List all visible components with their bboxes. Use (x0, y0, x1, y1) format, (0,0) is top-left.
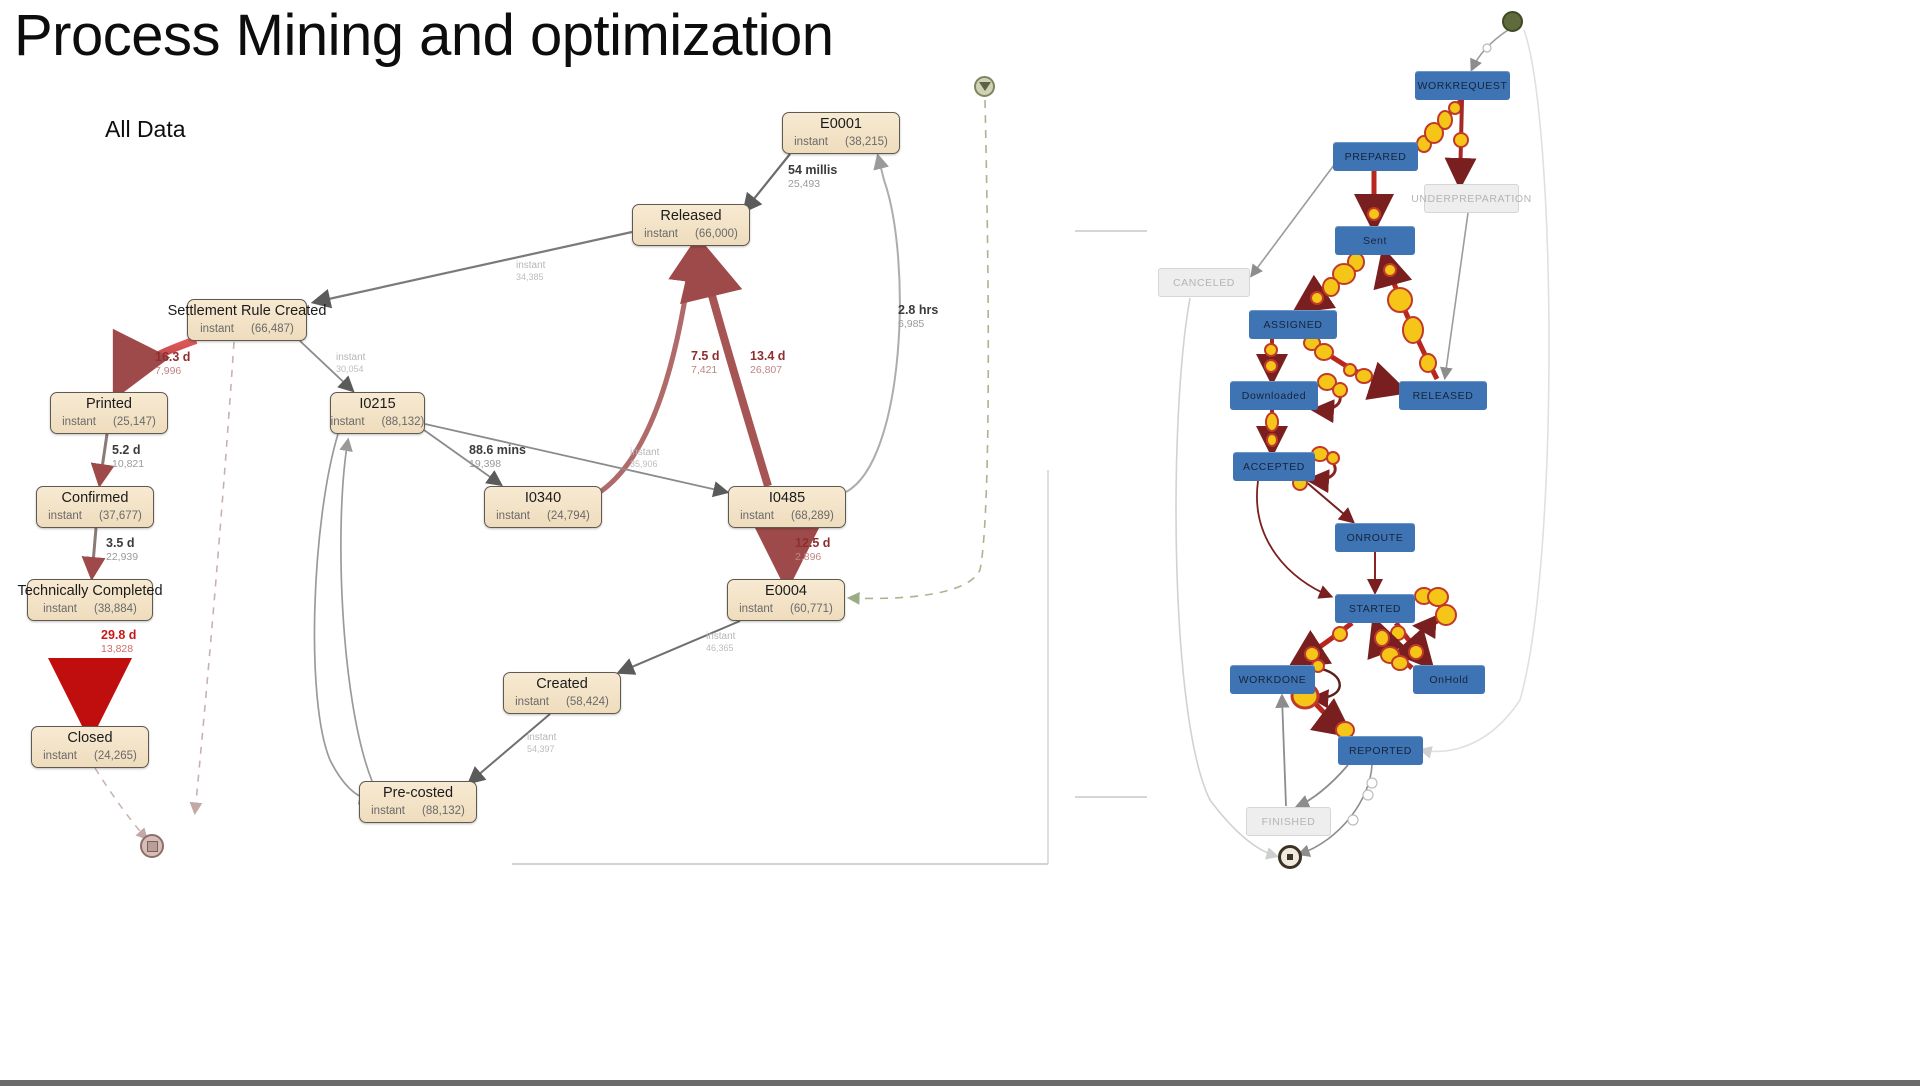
process-node-metrics: instant(66,487) (200, 323, 294, 335)
state-node-label: ASSIGNED (1263, 319, 1322, 331)
process-node-count: (38,215) (845, 136, 888, 148)
process-node-count: (66,487) (251, 323, 294, 335)
process-node-count: (68,289) (791, 510, 834, 522)
edge-count: 30,054 (336, 364, 365, 375)
process-node-metrics: instant(88,132) (331, 416, 425, 428)
process-node-count: (37,677) (99, 510, 142, 522)
process-node-count: (24,265) (94, 750, 137, 762)
process-node-metric: instant (371, 805, 405, 817)
state-node-underpreparation[interactable]: UNDERPREPARATION (1424, 184, 1519, 213)
process-node-created[interactable]: Createdinstant(58,424) (503, 672, 621, 714)
process-node-i0485[interactable]: I0485instant(68,289) (728, 486, 846, 528)
edge-label-i0215-to-i0340: 88.6 mins19,398 (469, 443, 526, 470)
state-node-label: Sent (1363, 235, 1387, 247)
process-node-count: (88,132) (382, 416, 425, 428)
edge-count: 22,939 (106, 551, 138, 563)
edge-count: 25,493 (788, 178, 837, 190)
edge-label-created-to-precost: instant54,397 (527, 732, 556, 754)
state-node-started[interactable]: STARTED (1335, 594, 1415, 623)
process-node-metric: instant (496, 510, 530, 522)
edge-label-i0340-to-released: 7.5 d7,421 (691, 349, 720, 376)
edge-count: 19,398 (469, 458, 526, 470)
process-node-metrics: instant(88,132) (371, 805, 465, 817)
state-node-label: UNDERPREPARATION (1411, 193, 1532, 205)
state-node-label: Downloaded (1242, 390, 1306, 402)
state-node-onhold[interactable]: OnHold (1413, 665, 1485, 694)
bpmn-end-marker[interactable] (1278, 845, 1302, 869)
edge-duration: 88.6 mins (469, 443, 526, 458)
process-node-label: Released (660, 208, 721, 225)
edge-count: 26,807 (750, 364, 785, 376)
state-node-released[interactable]: RELEASED (1399, 381, 1487, 410)
process-node-count: (25,147) (113, 416, 156, 428)
process-node-label: Printed (86, 396, 132, 413)
edge-duration: 2.8 hrs (898, 303, 938, 318)
process-node-metric: instant (794, 136, 828, 148)
edge-label-i0485-to-e0004: 12.5 d2,896 (795, 536, 830, 563)
process-node-released[interactable]: Releasedinstant(66,000) (632, 204, 750, 246)
process-node-label: I0215 (359, 396, 395, 413)
state-node-label: PREPARED (1345, 151, 1407, 163)
state-node-workdone[interactable]: WORKDONE (1230, 665, 1315, 694)
process-node-metric: instant (740, 510, 774, 522)
state-node-accepted[interactable]: ACCEPTED (1233, 452, 1315, 481)
process-node-label: Closed (67, 730, 112, 747)
process-node-i0340[interactable]: I0340instant(24,794) (484, 486, 602, 528)
edge-label-src-to-printed: 16.3 d7,996 (155, 350, 190, 377)
edge-label-e0004-to-created: instant46,365 (706, 631, 735, 653)
process-node-label: Created (536, 676, 588, 693)
edge-duration: instant (516, 260, 545, 272)
state-machine-edges (0, 0, 1920, 1086)
state-node-downloaded[interactable]: Downloaded (1230, 381, 1318, 410)
state-node-canceled[interactable]: CANCELED (1158, 268, 1250, 297)
edge-label-techcomp-to-closed: 29.8 d13,828 (101, 628, 136, 655)
process-node-precost[interactable]: Pre-costedinstant(88,132) (359, 781, 477, 823)
process-node-metric: instant (62, 416, 96, 428)
process-node-confirmed[interactable]: Confirmedinstant(37,677) (36, 486, 154, 528)
process-node-metrics: instant(38,884) (43, 603, 137, 615)
edge-count: 34,385 (516, 272, 545, 283)
start-marker[interactable] (974, 76, 995, 97)
edge-label-i0215-to-i0485: instant35,906 (630, 447, 659, 469)
process-node-metrics: instant(58,424) (515, 696, 609, 708)
edge-duration: 7.5 d (691, 349, 720, 364)
state-node-label: REPORTED (1349, 745, 1412, 757)
process-node-count: (38,884) (94, 603, 137, 615)
process-node-count: (66,000) (695, 228, 738, 240)
edge-duration: 3.5 d (106, 536, 138, 551)
process-node-label: I0485 (769, 490, 805, 507)
process-node-label: Pre-costed (383, 785, 453, 802)
process-node-metric: instant (48, 510, 82, 522)
bottom-bar (0, 1080, 1920, 1086)
process-node-metric: instant (515, 696, 549, 708)
state-node-sent[interactable]: Sent (1335, 226, 1415, 255)
process-node-i0215[interactable]: I0215instant(88,132) (330, 392, 425, 434)
edge-count: 54,397 (527, 744, 556, 755)
edge-count: 2,896 (795, 551, 830, 563)
process-node-metrics: instant(25,147) (62, 416, 156, 428)
process-node-metric: instant (43, 750, 77, 762)
process-node-count: (58,424) (566, 696, 609, 708)
process-node-metric: instant (644, 228, 678, 240)
state-node-label: FINISHED (1262, 816, 1316, 828)
state-node-reported[interactable]: REPORTED (1338, 736, 1423, 765)
process-node-label: I0340 (525, 490, 561, 507)
edge-count: 6,985 (898, 318, 938, 330)
process-node-metrics: instant(24,794) (496, 510, 590, 522)
edge-count: 35,906 (630, 459, 659, 470)
state-node-label: CANCELED (1173, 277, 1235, 289)
process-node-label: E0004 (765, 583, 807, 600)
state-node-label: WORKDONE (1239, 674, 1307, 686)
state-node-assigned[interactable]: ASSIGNED (1249, 310, 1337, 339)
process-node-label: Confirmed (62, 490, 129, 507)
edge-count: 46,365 (706, 643, 735, 654)
process-node-metrics: instant(37,677) (48, 510, 142, 522)
process-node-label: Settlement Rule Created (168, 303, 327, 320)
process-node-src[interactable]: Settlement Rule Createdinstant(66,487) (187, 299, 307, 341)
edge-duration: 12.5 d (795, 536, 830, 551)
edge-duration: 5.2 d (112, 443, 144, 458)
edge-duration: instant (527, 732, 556, 744)
process-node-metric: instant (43, 603, 77, 615)
state-node-label: STARTED (1349, 603, 1401, 615)
edge-duration: 29.8 d (101, 628, 136, 643)
process-node-metric: instant (200, 323, 234, 335)
edge-count: 7,996 (155, 365, 190, 377)
edge-label-i0485-to-e0001: 2.8 hrs6,985 (898, 303, 938, 330)
edge-duration: instant (706, 631, 735, 643)
process-node-e0004[interactable]: E0004instant(60,771) (727, 579, 845, 621)
edge-duration: instant (630, 447, 659, 459)
process-node-metrics: instant(24,265) (43, 750, 137, 762)
state-node-workrequest[interactable]: WORKREQUEST (1415, 71, 1510, 100)
state-node-label: ACCEPTED (1243, 461, 1305, 473)
process-node-e0001[interactable]: E0001instant(38,215) (782, 112, 900, 154)
state-node-label: WORKREQUEST (1417, 80, 1507, 92)
process-node-printed[interactable]: Printedinstant(25,147) (50, 392, 168, 434)
edge-duration: 54 millis (788, 163, 837, 178)
state-node-label: OnHold (1429, 674, 1468, 686)
process-node-label: Technically Completed (17, 583, 162, 600)
edge-duration: 13.4 d (750, 349, 785, 364)
edge-label-e0001-to-released: 54 millis25,493 (788, 163, 837, 190)
edge-count: 13,828 (101, 643, 136, 655)
bpmn-start-marker[interactable] (1502, 11, 1523, 32)
edge-label-confirmed-to-techcomp: 3.5 d22,939 (106, 536, 138, 563)
edge-label-printed-to-confirmed: 5.2 d10,821 (112, 443, 144, 470)
process-node-metrics: instant(38,215) (794, 136, 888, 148)
process-node-count: (60,771) (790, 603, 833, 615)
process-node-closed[interactable]: Closedinstant(24,265) (31, 726, 149, 768)
edge-label-src-to-i0215: instant30,054 (336, 352, 365, 374)
process-node-metric: instant (331, 416, 365, 428)
process-node-metric: instant (739, 603, 773, 615)
process-node-count: (24,794) (547, 510, 590, 522)
process-node-metrics: instant(68,289) (740, 510, 834, 522)
state-node-label: ONROUTE (1347, 532, 1404, 544)
edge-duration: 16.3 d (155, 350, 190, 365)
state-node-label: RELEASED (1413, 390, 1474, 402)
process-node-techcomp[interactable]: Technically Completedinstant(38,884) (27, 579, 153, 621)
edge-label-i0485-to-released: 13.4 d26,807 (750, 349, 785, 376)
edge-label-released-to-src: instant34,385 (516, 260, 545, 282)
edge-duration: instant (336, 352, 365, 364)
process-node-label: E0001 (820, 116, 862, 133)
state-node-onroute[interactable]: ONROUTE (1335, 523, 1415, 552)
state-node-finished[interactable]: FINISHED (1246, 807, 1331, 836)
state-node-prepared[interactable]: PREPARED (1333, 142, 1418, 171)
end-marker[interactable] (140, 834, 164, 858)
process-node-metrics: instant(60,771) (739, 603, 833, 615)
edge-count: 7,421 (691, 364, 720, 376)
process-node-count: (88,132) (422, 805, 465, 817)
edge-count: 10,821 (112, 458, 144, 470)
process-node-metrics: instant(66,000) (644, 228, 738, 240)
